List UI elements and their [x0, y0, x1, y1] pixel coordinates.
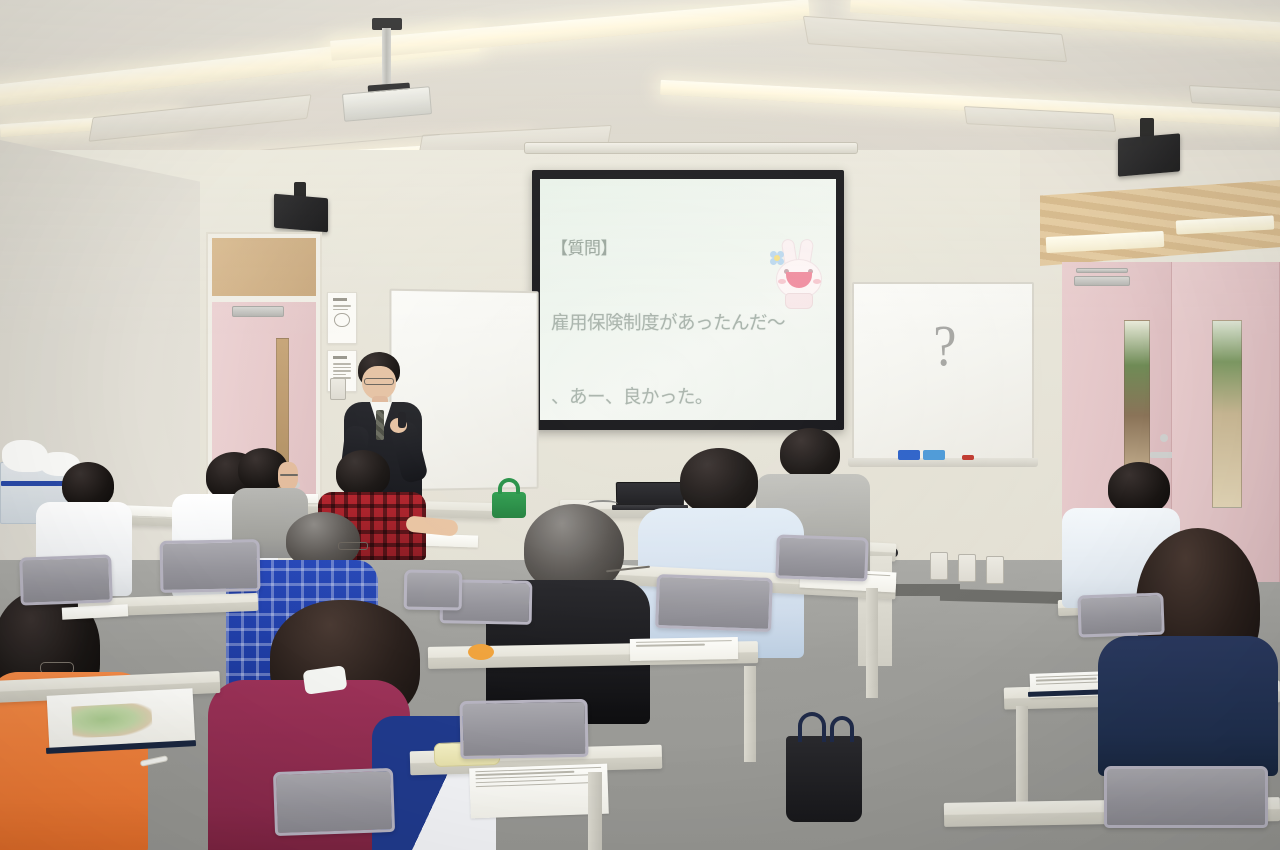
speaker-left	[274, 182, 328, 230]
hair	[336, 450, 390, 496]
speaker-right	[1118, 118, 1182, 174]
door-vision-panel	[1212, 320, 1242, 508]
glasses-icon	[280, 474, 298, 476]
door-closer	[1074, 276, 1130, 286]
chair-back[interactable]	[1104, 766, 1268, 828]
handout-papers	[630, 637, 738, 661]
chair-back[interactable]	[404, 569, 463, 610]
eraser-blue-dark[interactable]	[898, 450, 920, 460]
chair-back[interactable]	[775, 534, 868, 581]
door-vision-panel	[1124, 320, 1150, 480]
corridor-light	[1176, 215, 1275, 234]
door-closer	[232, 306, 284, 317]
orange-object	[468, 644, 494, 660]
speaker-box	[274, 194, 328, 233]
eraser-blue-light[interactable]	[923, 450, 945, 460]
chair-back[interactable]	[655, 574, 773, 632]
ceiling-vent	[1189, 85, 1280, 109]
corridor-light	[1046, 231, 1165, 253]
projector-pole	[382, 28, 391, 90]
desk-leg	[588, 772, 602, 850]
door-transom-window	[212, 238, 316, 296]
hair	[680, 448, 758, 514]
wall-outlet-panel[interactable]	[958, 554, 976, 582]
tote-bag-black	[786, 736, 862, 822]
projection-screen-roller[interactable]	[524, 142, 858, 154]
instructor-glasses-icon	[364, 378, 394, 385]
speaker-box	[1118, 133, 1180, 176]
chair-back[interactable]	[1077, 593, 1164, 638]
slide-line: 、あー、良かった。	[551, 385, 830, 410]
notice-diagram	[327, 292, 357, 344]
ceiling-vent	[88, 94, 311, 142]
projection-screen[interactable]: 【質問】 雇用保険制度があったんだ～ 、あー、良かった。 だけど、加入手続きを …	[532, 170, 844, 430]
glasses-icon	[338, 542, 368, 550]
bag-handle-icon	[498, 478, 520, 494]
wall-outlet-panel[interactable]	[986, 556, 1004, 584]
chair-back[interactable]	[460, 699, 589, 759]
chair-back[interactable]	[19, 554, 113, 605]
drawn-question-mark: ?	[933, 312, 956, 379]
bag-handle-icon	[830, 716, 854, 742]
torso	[1098, 636, 1278, 776]
bag-handle-icon	[798, 712, 826, 742]
desk-leg	[1016, 706, 1028, 802]
bunny-body	[785, 293, 813, 309]
hair	[524, 504, 624, 592]
classroom-photo: 【質問】 雇用保険制度があったんだ～ 、あー、良かった。 だけど、加入手続きを …	[0, 0, 1280, 850]
flower-icon	[770, 251, 784, 265]
door-closer-arm	[1076, 268, 1128, 273]
bunny-blush	[778, 279, 786, 284]
presenter-remote[interactable]	[398, 412, 406, 428]
wall-outlet-panel[interactable]	[930, 552, 948, 580]
projection-screen-surface: 【質問】 雇用保険制度があったんだ～ 、あー、良かった。 だけど、加入手続きを …	[540, 179, 836, 420]
bunny-mascot-icon	[768, 239, 830, 315]
attendee-navy-longhair	[1098, 528, 1280, 768]
face	[278, 462, 298, 490]
desk-leg	[866, 588, 878, 698]
whiteboard-right[interactable]: ?	[852, 282, 1034, 460]
instructor-necktie	[376, 410, 384, 440]
marker-red[interactable]	[962, 455, 974, 460]
door-lock[interactable]	[1160, 434, 1168, 442]
hair	[1108, 462, 1170, 514]
bunny-blush	[813, 279, 821, 284]
chair-back[interactable]	[160, 539, 261, 593]
chair-back[interactable]	[273, 768, 395, 836]
ceiling-projector	[348, 18, 428, 110]
desk-leg	[744, 666, 756, 762]
